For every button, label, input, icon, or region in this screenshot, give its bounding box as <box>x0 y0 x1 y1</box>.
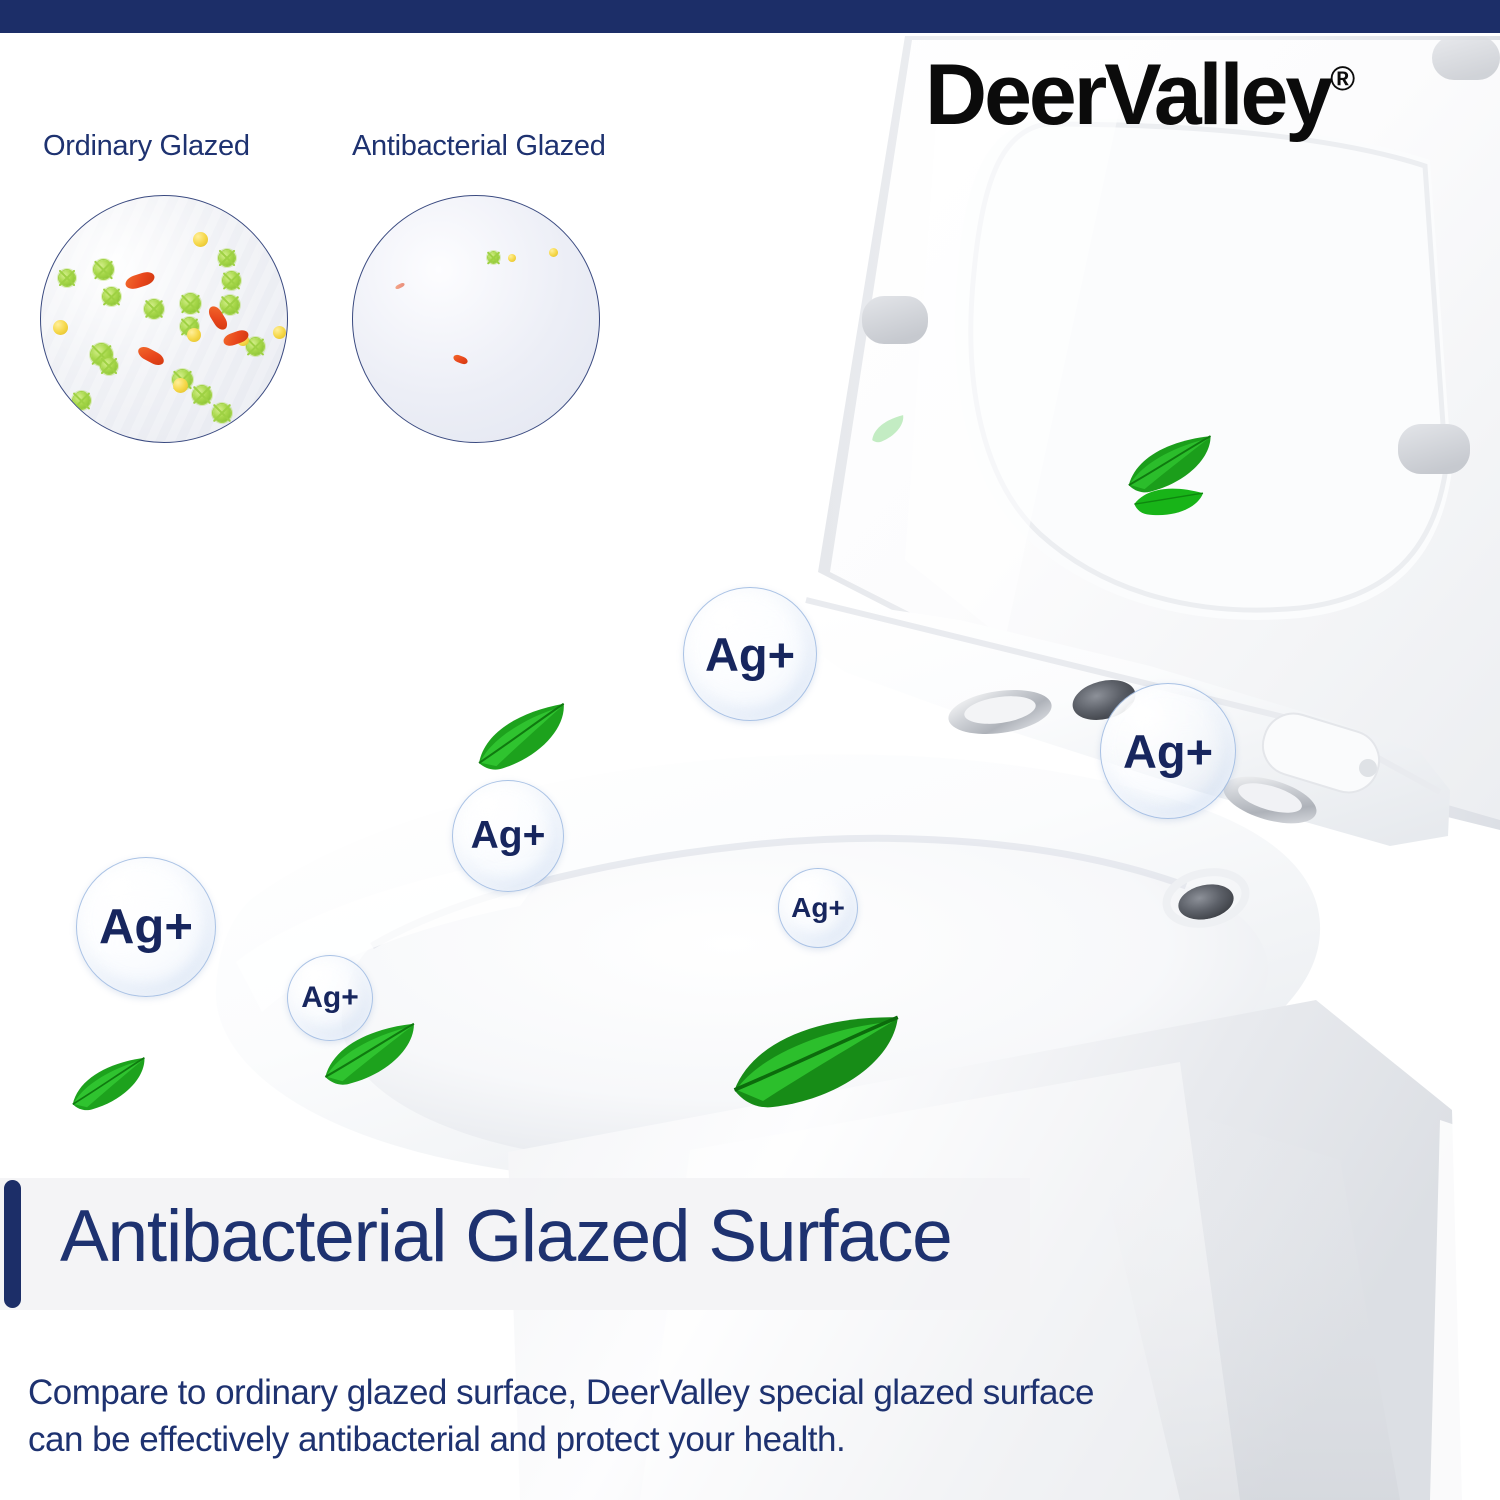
leaf-icon <box>62 1051 157 1117</box>
bowl-bolt-hole <box>1175 880 1237 925</box>
antibacterial-glazed-petri <box>352 195 600 443</box>
description-line-1: Compare to ordinary glazed surface, Deer… <box>28 1370 1278 1417</box>
ag-plus-bubble: Ag+ <box>683 587 817 721</box>
ag-plus-bubble: Ag+ <box>778 868 858 948</box>
ordinary-glazed-petri <box>40 195 288 443</box>
ag-plus-bubble: Ag+ <box>287 955 373 1041</box>
leaf-icon <box>865 411 910 446</box>
leaf-icon <box>717 1004 915 1116</box>
description-text: Compare to ordinary glazed surface, Deer… <box>28 1370 1278 1464</box>
leaf-icon <box>465 696 580 778</box>
comparison-column-antibacterial: Antibacterial Glazed <box>352 130 606 443</box>
flush-ring <box>946 684 1055 740</box>
ag-plus-bubble: Ag+ <box>452 780 564 892</box>
ordinary-glazed-label: Ordinary Glazed <box>43 130 288 163</box>
brand-name: DeerValley <box>925 47 1330 143</box>
registered-trademark-mark: ® <box>1330 60 1355 98</box>
glaze-comparison-panel: Ordinary Glazed <box>0 130 700 510</box>
description-line-2: can be effectively antibacterial and pro… <box>28 1417 1278 1464</box>
brand-logo: DeerValley® <box>925 52 1355 138</box>
lid-bumper-pad <box>862 296 928 344</box>
lid-bumper-pad <box>1398 424 1470 474</box>
antibacterial-glazed-label: Antibacterial Glazed <box>352 130 606 163</box>
ag-plus-bubble: Ag+ <box>76 857 216 997</box>
top-accent-bar <box>0 0 1500 33</box>
comparison-column-ordinary: Ordinary Glazed <box>40 130 288 443</box>
seat-hinge <box>1256 706 1387 800</box>
product-marketing-image: DeerValley® Ordinary Glazed <box>0 0 1500 1500</box>
headline-accent-bar <box>4 1180 21 1308</box>
page-title: Antibacterial Glazed Surface <box>60 1197 952 1277</box>
leaf-icon <box>1131 478 1205 523</box>
ag-plus-bubble: Ag+ <box>1100 683 1236 819</box>
